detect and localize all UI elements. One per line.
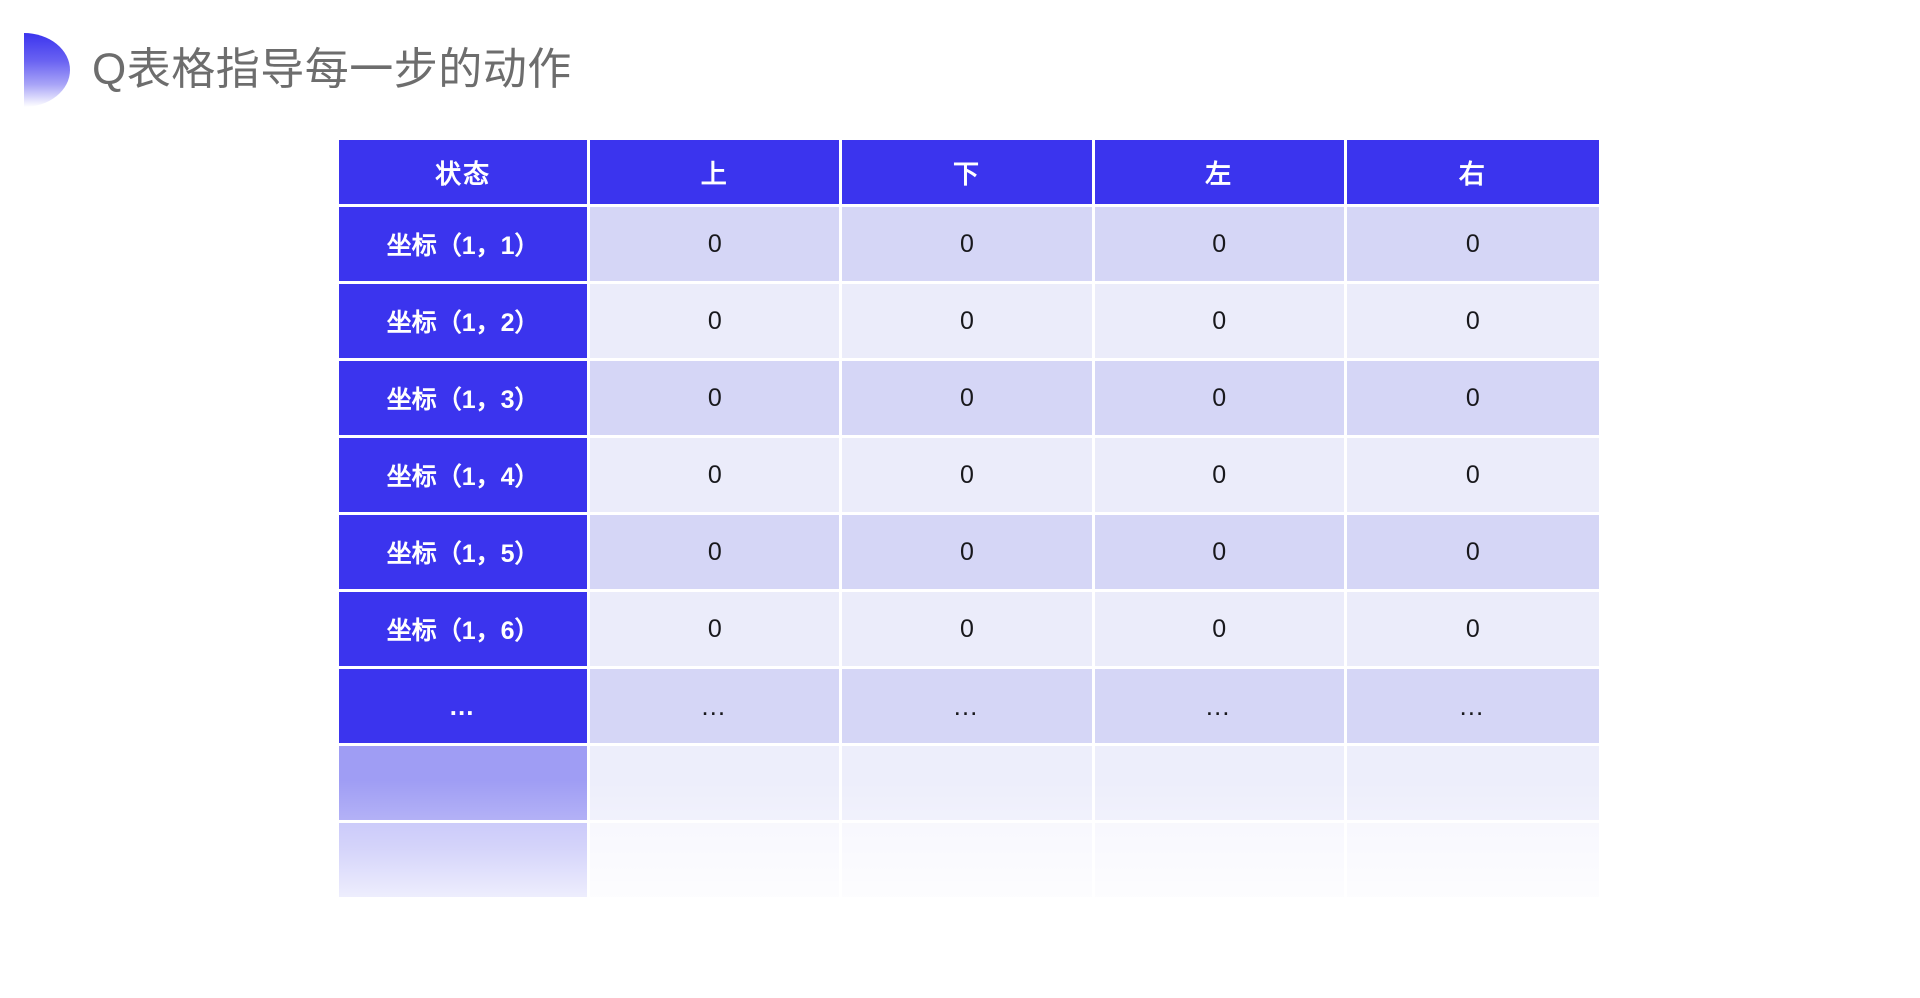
q-value-down: 0	[842, 361, 1094, 438]
column-header-down: 下	[842, 140, 1094, 207]
q-value-right	[1347, 823, 1599, 900]
table-row: 坐标（1，1） 0 0 0 0	[339, 207, 1599, 284]
state-label: 坐标（1，3）	[339, 361, 590, 438]
q-value-up: 0	[590, 438, 842, 515]
table-row: 坐标（1，6） 0 0 0 0	[339, 592, 1599, 669]
page-title: Q表格指导每一步的动作	[92, 48, 572, 92]
q-value-down: 0	[842, 592, 1094, 669]
column-header-up: 上	[590, 140, 842, 207]
table-row-placeholder	[339, 823, 1599, 900]
table-row: 坐标（1，3） 0 0 0 0	[339, 361, 1599, 438]
table-row: 坐标（1，4） 0 0 0 0	[339, 438, 1599, 515]
state-label: 坐标（1，1）	[339, 207, 590, 284]
state-label-empty	[339, 746, 590, 823]
q-value-right	[1347, 746, 1599, 823]
q-table: 状态 上 下 左 右 坐标（1，1） 0 0 0 0 坐标（1，2） 0	[339, 140, 1599, 900]
q-value-up	[590, 823, 842, 900]
q-value-right: 0	[1347, 592, 1599, 669]
q-value-down: 0	[842, 438, 1094, 515]
state-label: 坐标（1，6）	[339, 592, 590, 669]
q-value-up: …	[590, 669, 842, 746]
q-value-up: 0	[590, 592, 842, 669]
q-value-left: 0	[1095, 438, 1347, 515]
half-circle-decoration-icon	[24, 33, 70, 107]
q-value-up: 0	[590, 361, 842, 438]
q-value-left: 0	[1095, 207, 1347, 284]
table-row-ellipsis: … … … … …	[339, 669, 1599, 746]
q-value-left: 0	[1095, 515, 1347, 592]
q-value-up	[590, 746, 842, 823]
slide-canvas: Q表格指导每一步的动作 状态 上 下 左 右	[0, 0, 1920, 998]
q-value-up: 0	[590, 515, 842, 592]
q-value-right: 0	[1347, 207, 1599, 284]
q-table-body: 坐标（1，1） 0 0 0 0 坐标（1，2） 0 0 0 0 坐标（1，3） …	[339, 207, 1599, 900]
q-value-down: 0	[842, 515, 1094, 592]
state-label: 坐标（1，4）	[339, 438, 590, 515]
q-table-head: 状态 上 下 左 右	[339, 140, 1599, 207]
column-header-state: 状态	[339, 140, 590, 207]
column-header-left: 左	[1095, 140, 1347, 207]
q-value-right: 0	[1347, 515, 1599, 592]
q-value-down: …	[842, 669, 1094, 746]
slide-title-row: Q表格指导每一步的动作	[0, 34, 572, 106]
q-value-down	[842, 746, 1094, 823]
table-row: 坐标（1，5） 0 0 0 0	[339, 515, 1599, 592]
q-value-left	[1095, 746, 1347, 823]
table-row: 坐标（1，2） 0 0 0 0	[339, 284, 1599, 361]
q-value-right: 0	[1347, 438, 1599, 515]
q-value-down: 0	[842, 284, 1094, 361]
table-header-row: 状态 上 下 左 右	[339, 140, 1599, 207]
state-label: 坐标（1，2）	[339, 284, 590, 361]
q-value-left	[1095, 823, 1347, 900]
q-value-right: …	[1347, 669, 1599, 746]
q-value-right: 0	[1347, 361, 1599, 438]
q-value-left: 0	[1095, 592, 1347, 669]
q-value-left: …	[1095, 669, 1347, 746]
q-table-container: 状态 上 下 左 右 坐标（1，1） 0 0 0 0 坐标（1，2） 0	[339, 140, 1599, 900]
q-value-down	[842, 823, 1094, 900]
column-header-right: 右	[1347, 140, 1599, 207]
q-value-up: 0	[590, 207, 842, 284]
q-value-down: 0	[842, 207, 1094, 284]
state-label: 坐标（1，5）	[339, 515, 590, 592]
q-value-left: 0	[1095, 284, 1347, 361]
state-label-empty	[339, 823, 590, 900]
state-label-ellipsis: …	[339, 669, 590, 746]
q-value-left: 0	[1095, 361, 1347, 438]
q-value-up: 0	[590, 284, 842, 361]
table-row-placeholder	[339, 746, 1599, 823]
q-value-right: 0	[1347, 284, 1599, 361]
